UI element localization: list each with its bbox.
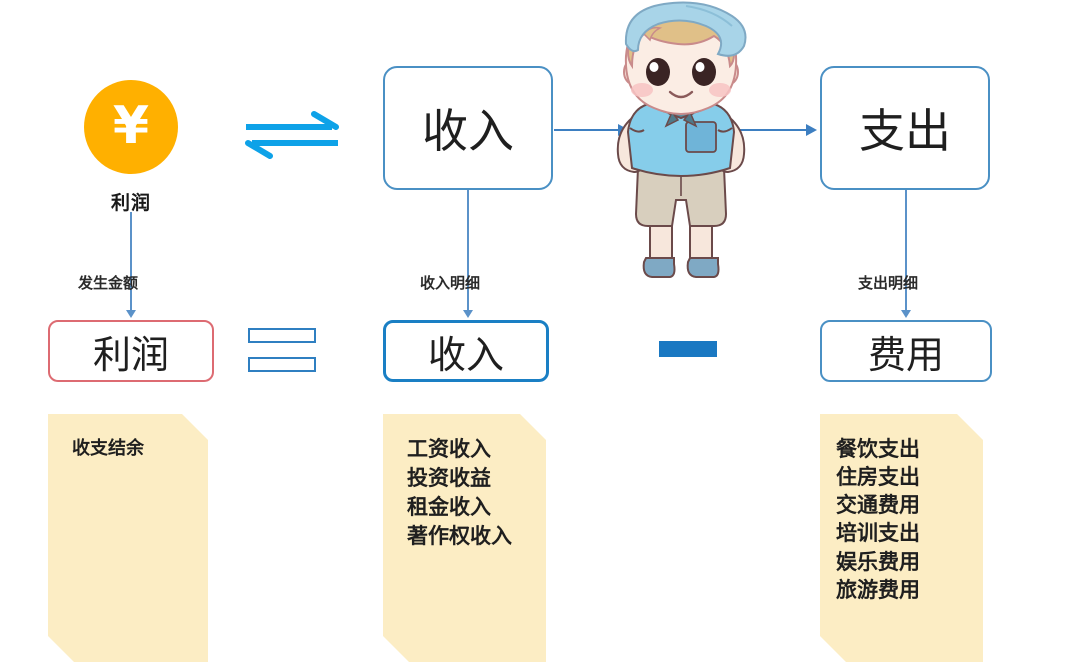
yen-icon: ¥ — [84, 80, 178, 174]
note-item: 著作权收入 — [407, 523, 546, 552]
note-item: 工资收入 — [407, 436, 546, 465]
connector-income-vertical — [467, 190, 469, 312]
node-profit-bottom[interactable]: 利润 — [48, 320, 214, 382]
node-profit-bottom-label: 利润 — [93, 324, 169, 379]
note-item: 旅游费用 — [836, 577, 983, 605]
yen-symbol: ¥ — [113, 100, 149, 152]
connector-expense-vertical — [905, 190, 907, 312]
node-income-bottom[interactable]: 收入 — [383, 320, 549, 382]
node-cost-bottom[interactable]: 费用 — [820, 320, 992, 382]
node-cost-bottom-label: 费用 — [868, 324, 944, 379]
node-expense-top-label: 支出 — [859, 95, 951, 161]
note-card-expense: 餐饮支出 住房支出 交通费用 培训支出 娱乐费用 旅游费用 — [820, 414, 983, 662]
diagram-canvas: ¥ 利润 收入 支出 — [0, 0, 1080, 655]
equals-bar-top — [248, 328, 316, 343]
note-item: 交通费用 — [836, 492, 983, 520]
note-item: 收支结余 — [72, 436, 208, 461]
cartoon-boy-illustration — [586, 0, 776, 290]
equals-sign-icon — [248, 328, 316, 372]
note-card-profit: 收支结余 — [48, 414, 208, 662]
connector-profit-vertical — [130, 212, 132, 312]
node-income-top-label: 收入 — [422, 95, 514, 161]
minus-sign-icon — [659, 341, 717, 357]
note-item: 租金收入 — [407, 494, 546, 523]
node-expense-top[interactable]: 支出 — [820, 66, 990, 190]
edge-label-income: 收入明细 — [420, 272, 480, 293]
note-item: 娱乐费用 — [836, 549, 983, 577]
equilibrium-arrow-icon — [240, 108, 344, 166]
profit-badge-caption: 利润 — [84, 188, 178, 215]
note-item: 住房支出 — [836, 464, 983, 492]
note-item: 投资收益 — [407, 465, 546, 494]
connector-income-arrowhead — [463, 310, 473, 318]
note-item: 餐饮支出 — [836, 436, 983, 464]
arrow-character-to-expense-head — [806, 124, 817, 136]
connector-expense-arrowhead — [901, 310, 911, 318]
note-card-income: 工资收入 投资收益 租金收入 著作权收入 — [383, 414, 546, 662]
connector-profit-arrowhead — [126, 310, 136, 318]
node-income-bottom-label: 收入 — [428, 324, 504, 379]
equals-bar-bottom — [248, 357, 316, 372]
edge-label-expense: 支出明细 — [858, 272, 918, 293]
edge-label-profit: 发生金额 — [78, 272, 138, 293]
note-item: 培训支出 — [836, 520, 983, 548]
node-income-top[interactable]: 收入 — [383, 66, 553, 190]
